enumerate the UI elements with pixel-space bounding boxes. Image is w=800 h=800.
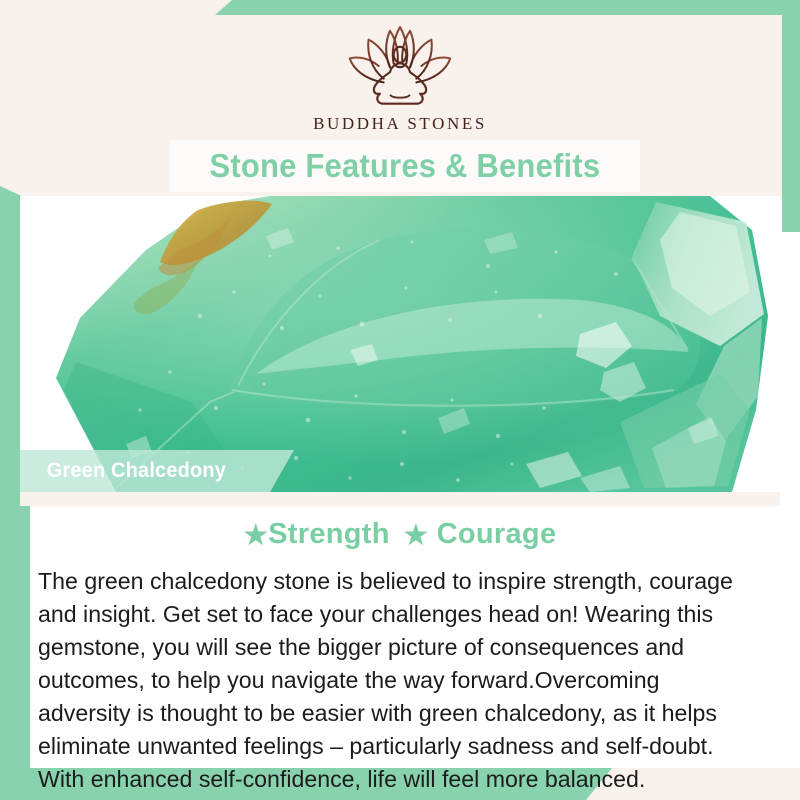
- content-card: ★Strength★ Courage The green chalcedony …: [30, 506, 770, 768]
- stone-photo: Green Chalcedony: [20, 196, 780, 492]
- title-plate: Stone Features & Benefits: [170, 140, 640, 192]
- star-icon-courage: ★: [404, 520, 429, 550]
- description-paragraph: The green chalcedony stone is believed t…: [38, 565, 751, 796]
- photo-caption-label: Green Chalcedony: [47, 459, 226, 483]
- page-title: Stone Features & Benefits: [210, 147, 601, 185]
- green-chalcedony-image: [20, 196, 780, 492]
- star-icon-strength: ★: [244, 520, 269, 550]
- photo-caption-ribbon: Green Chalcedony: [20, 450, 294, 492]
- keyword-courage: Courage: [437, 518, 557, 550]
- lotus-meditation-icon: [336, 22, 464, 110]
- poster-root: BUDDHA STONES Stone Features & Benefits: [0, 0, 800, 800]
- keyword-row: ★Strength★ Courage: [30, 518, 770, 551]
- brand-wordmark: BUDDHA STONES: [313, 114, 487, 134]
- keyword-strength: Strength: [268, 518, 390, 550]
- photo-underline-strip: [20, 492, 780, 506]
